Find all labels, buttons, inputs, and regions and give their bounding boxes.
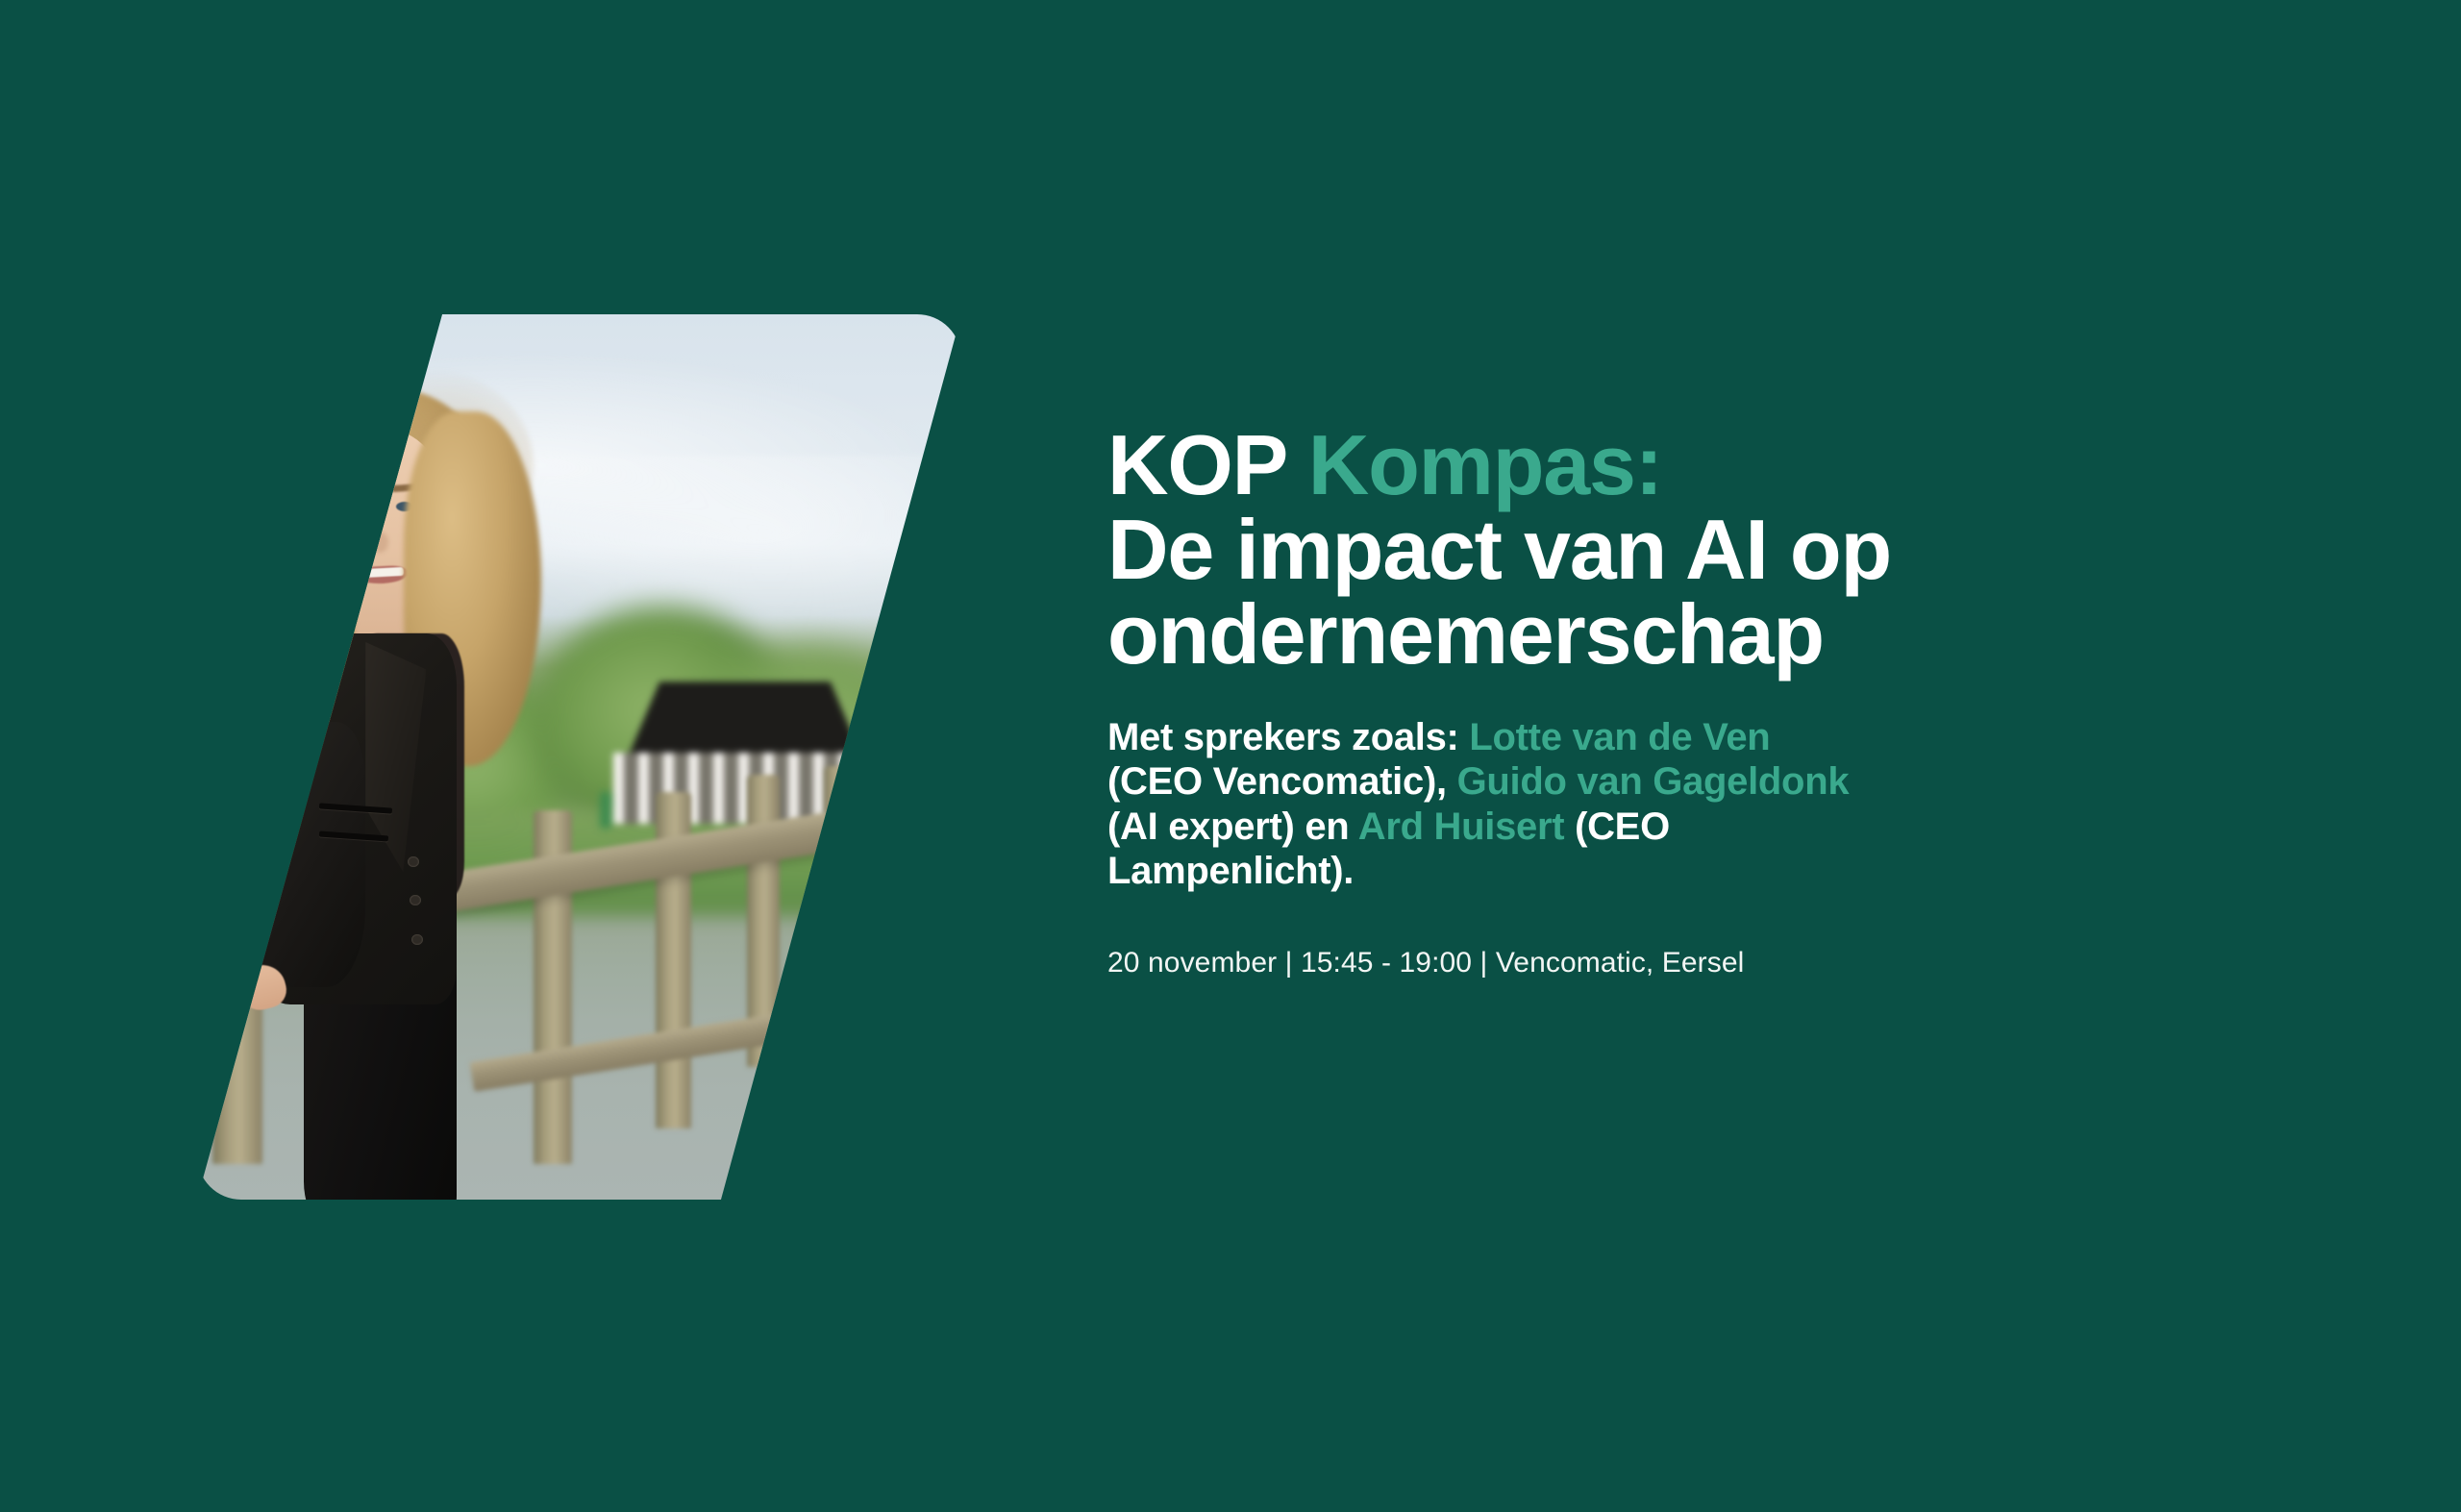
speaker-role-1: (CEO Vencomatic), [1107, 760, 1457, 803]
nose [371, 532, 387, 553]
portrait-photo [197, 314, 961, 1200]
headline-kompas: Kompas: [1308, 417, 1662, 512]
speakers-text: Met sprekers zoals: Lotte van de Ven (CE… [1107, 715, 1867, 894]
speaker-role-2: (AI expert) en [1107, 806, 1358, 848]
event-details: 20 november | 15:45 - 19:00 | Vencomatic… [1107, 944, 2126, 981]
blazer-sleeve [236, 722, 365, 987]
portrait-frame [197, 314, 961, 1200]
blouse-button [411, 934, 423, 945]
portrait-image [197, 314, 961, 1200]
speaker-name-lotte-van-de-ven: Lotte van de Ven [1469, 716, 1770, 758]
headline-kop: KOP [1107, 417, 1308, 512]
headline-line-3: ondernemerschap [1107, 592, 2126, 677]
page-title: KOP Kompas: De impact van AI op ondernem… [1107, 423, 2126, 677]
eyebrow [342, 488, 373, 497]
speaker-name-guido-van-gageldonk: Guido van Gageldonk [1457, 760, 1850, 803]
eye [347, 508, 364, 517]
text-column: KOP Kompas: De impact van AI op ondernem… [1107, 423, 2126, 981]
headline-line-1: KOP Kompas: [1107, 423, 2126, 508]
speakers-intro: Met sprekers zoals: [1107, 716, 1469, 758]
speaker-name-ard-huisert: Ard Huisert [1358, 806, 1565, 848]
event-banner: KOP Kompas: De impact van AI op ondernem… [0, 0, 2461, 1512]
woman-figure [197, 314, 961, 1200]
headline-line-2: De impact van AI op [1107, 508, 2126, 592]
blouse-button [408, 856, 419, 867]
